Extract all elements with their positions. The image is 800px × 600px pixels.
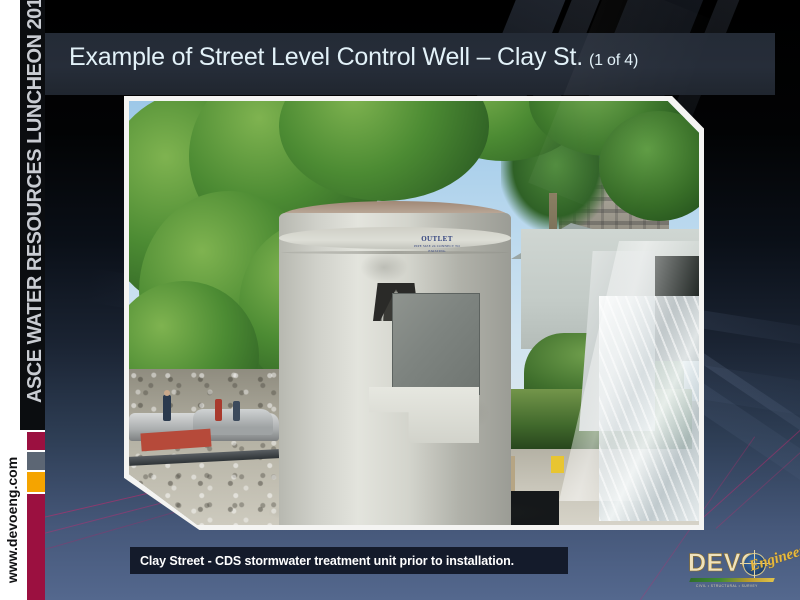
photo-access-panel [392,293,480,395]
slide-title-bar: Example of Street Level Control Well – C… [45,33,775,95]
page-title-text: Example of Street Level Control Well – C… [69,43,583,71]
sidebar-accent-bar-amber [27,472,45,492]
page-title-counter: (1 of 4) [589,52,638,69]
photo-caption-bar: Clay Street - CDS stormwater treatment u… [130,547,568,574]
sidebar-accent-bar-slate [27,452,45,470]
devo-tagline: CIVIL • STRUCTURAL • SURVEY [696,584,758,588]
photo-outlet-label-subtext: PIPE SIZE 24 CONNECT TO EXISTING [414,244,460,253]
sidebar-event-title: ASCE WATER RESOURCES LUNCHEON 2010 [25,0,45,405]
logo-underline-bar [689,578,775,582]
sidebar-accent-bar-maroon [27,432,45,450]
photo-warning-tag [551,456,564,473]
photo-caption-text: Clay Street - CDS stormwater treatment u… [130,554,514,568]
left-sidebar: ASCE WATER RESOURCES LUNCHEON 2010 www.d… [0,0,45,600]
photo-outlet-label-text: OUTLET [421,235,453,243]
devo-logo: DEVO Engineering CIVIL • STRUCTURAL • SU… [688,551,792,595]
photo-worker [163,395,171,421]
page-title: Example of Street Level Control Well – C… [69,43,638,72]
photo-worker [233,401,240,421]
sidebar-website-url: www.devoeng.com [5,435,19,600]
photo-outlet-label: OUTLET PIPE SIZE 24 CONNECT TO EXISTING [414,235,460,254]
photo-worker [215,399,222,421]
presentation-slide: OUTLET PIPE SIZE 24 CONNECT TO EXISTING … [0,0,800,600]
sidebar-accent-bar-maroon-long [27,494,45,600]
